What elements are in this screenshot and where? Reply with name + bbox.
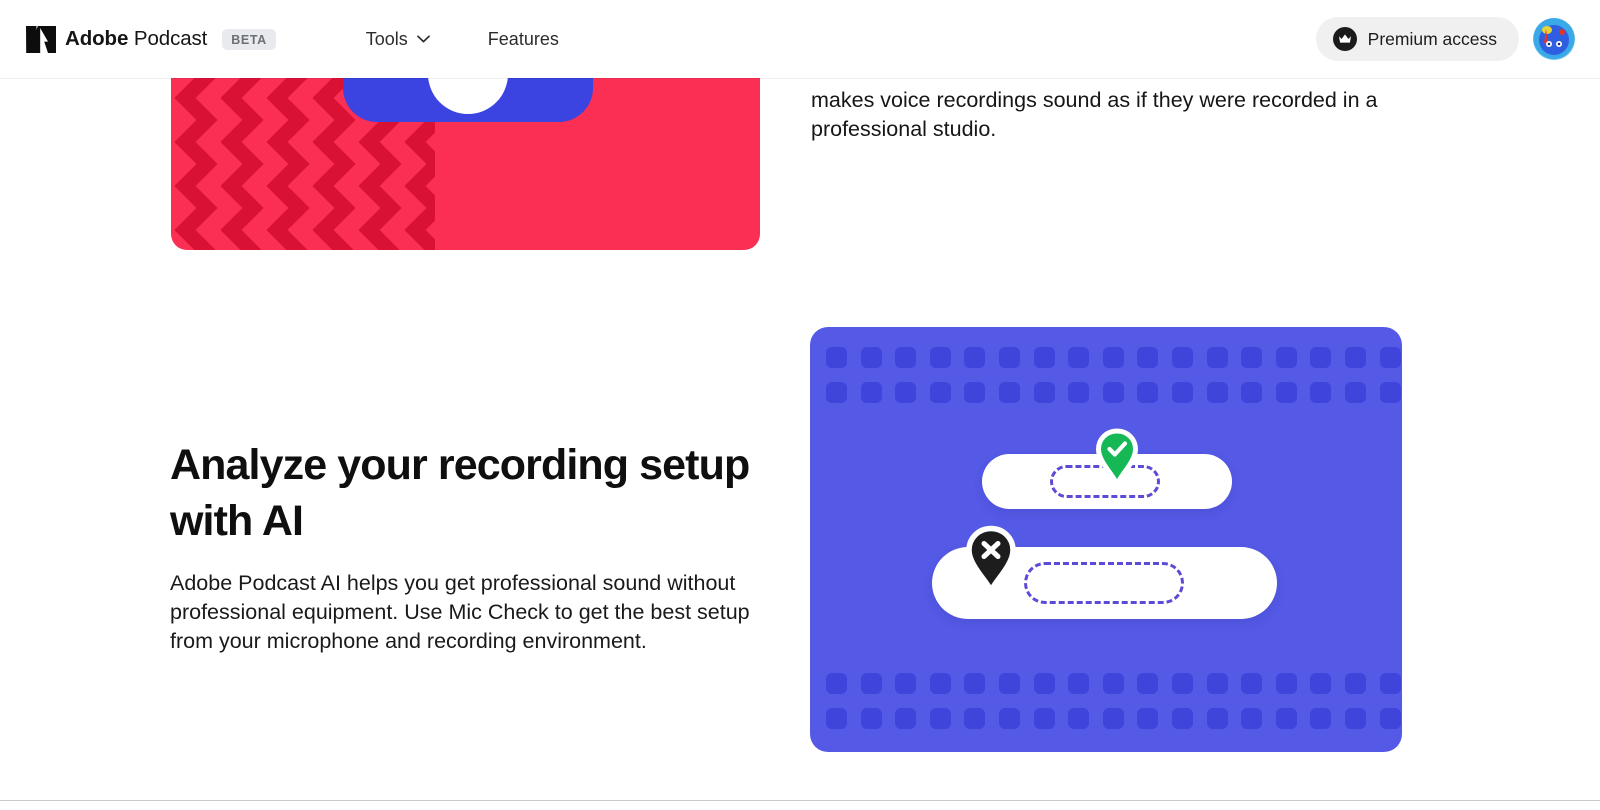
map-pin-x-icon: [965, 525, 1017, 591]
header-actions: Premium access: [1316, 17, 1575, 61]
nav-item-tools-label: Tools: [366, 29, 408, 50]
brand-name: Adobe Podcast: [65, 27, 207, 51]
avatar[interactable]: [1533, 18, 1575, 60]
pill-group: [810, 327, 1402, 752]
main-nav: Tools Features: [352, 23, 573, 56]
nav-item-features-label: Features: [488, 29, 559, 50]
app-header: Adobe Podcast BETA Tools Features: [0, 0, 1600, 78]
page-root: makes voice recordings sound as if they …: [0, 0, 1600, 810]
dashed-outline-bottom: [1024, 562, 1184, 604]
beta-badge: BETA: [222, 29, 276, 50]
mic-check-illustration-card: [810, 327, 1402, 752]
brand-logo-link[interactable]: Adobe Podcast BETA: [26, 26, 276, 53]
hero-red-card: [171, 78, 760, 250]
bottom-divider: [0, 800, 1600, 801]
top-paragraph: makes voice recordings sound as if they …: [811, 86, 1411, 144]
adobe-a-mark-icon: [26, 26, 56, 53]
analyze-body-text: Adobe Podcast AI helps you get professio…: [170, 569, 750, 656]
map-pin-check-icon: [1095, 428, 1139, 486]
chevron-down-icon: [417, 35, 430, 43]
premium-access-button[interactable]: Premium access: [1316, 17, 1519, 61]
brand-name-regular: Podcast: [134, 27, 207, 50]
premium-access-label: Premium access: [1368, 29, 1497, 50]
brand-name-bold: Adobe: [65, 27, 128, 50]
crown-icon: [1333, 27, 1357, 51]
analyze-section: Analyze your recording setup with AI Ado…: [170, 437, 760, 656]
nav-item-tools[interactable]: Tools: [352, 23, 444, 56]
user-avatar-icon: [1533, 18, 1575, 60]
nav-item-features[interactable]: Features: [474, 23, 573, 56]
page-title: Analyze your recording setup with AI: [170, 437, 760, 549]
